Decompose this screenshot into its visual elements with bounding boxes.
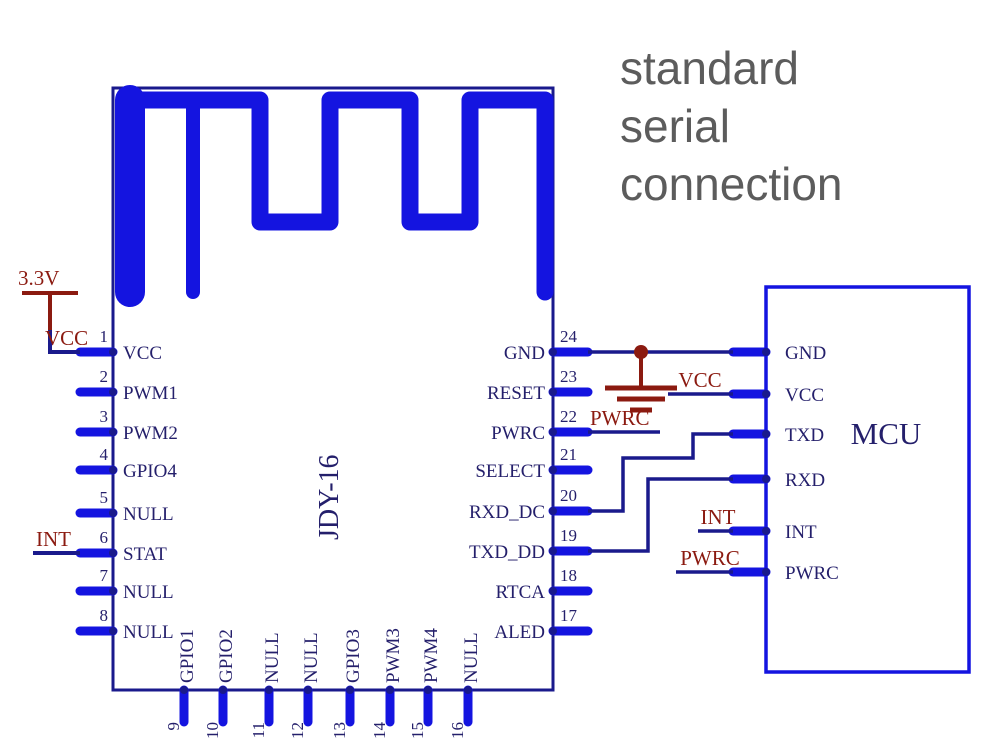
mcu-pin-gnd-label: GND [785, 343, 826, 364]
pin-right-21-number: 21 [560, 445, 577, 464]
supply-net-3v3: 3.3V VCC [18, 266, 88, 352]
pin-left-4-number: 4 [100, 445, 109, 464]
pin-right-18-number: 18 [560, 566, 577, 585]
pin-right-20-name: RXD_DC [469, 502, 545, 523]
annotation-title: standard serial connection [620, 40, 990, 214]
pin-left-3-name: PWM2 [123, 423, 178, 444]
pin-left-4-name: GPIO4 [123, 461, 177, 482]
pin-left-8-name: NULL [123, 622, 174, 643]
int-net-right: INT [698, 505, 736, 531]
pin-left-8-number: 8 [100, 606, 109, 625]
pin-left-6-number: 6 [100, 528, 109, 547]
pin-bottom-9-number: 9 [164, 722, 183, 731]
pin-left-1-name: VCC [123, 343, 162, 364]
pin-bottom-16-name: NULL [461, 632, 482, 683]
vcc-net-right: VCC [668, 368, 733, 394]
pwrc-mid-label: PWRC [590, 406, 650, 430]
annotation-line-2: serial [620, 98, 990, 156]
pin-bottom-10-name: GPIO2 [216, 629, 237, 683]
pwrc-net-right: PWRC [676, 546, 740, 572]
pin-left-6-name: STAT [123, 544, 167, 565]
pin-left-1-number: 1 [100, 327, 109, 346]
mcu-pin-rxd-label: RXD [785, 470, 825, 491]
pin-bottom-12-name: NULL [301, 632, 322, 683]
pin-right-22-name: PWRC [491, 423, 545, 444]
vcc-left-label: VCC [45, 326, 88, 350]
vcc-right-label: VCC [678, 368, 721, 392]
pin-right-18-name: RTCA [495, 582, 545, 603]
pin-right-20-number: 20 [560, 486, 577, 505]
pin-bottom-10-number: 10 [203, 722, 222, 739]
pin-right-23-name: RESET [487, 383, 545, 404]
pwrc-net-mid: PWRC [588, 406, 660, 432]
pin-left-7-name: NULL [123, 582, 174, 603]
pin-right-17-name: ALED [494, 622, 545, 643]
mcu-pin-pwrc-label: PWRC [785, 563, 839, 584]
pin-right-19-name: TXD_DD [469, 542, 545, 563]
pin-right-24-number: 24 [560, 327, 578, 346]
pin-bottom-16-number: 16 [448, 722, 467, 739]
pin-bottom-11-number: 11 [249, 722, 268, 738]
supply-label: 3.3V [18, 266, 59, 290]
mcu-pin-pwrc[interactable]: PWRC [733, 563, 839, 584]
ground-symbol-icon [605, 345, 677, 410]
pin-bottom-14-name: PWM3 [383, 628, 404, 683]
pin-bottom-12-number: 12 [288, 722, 307, 739]
pin-right-22-number: 22 [560, 407, 577, 426]
pin-right-24-name: GND [504, 343, 545, 364]
pin-bottom-13-number: 13 [330, 722, 349, 739]
pin-bottom-15-name: PWM4 [421, 628, 442, 683]
pin-bottom-15-number: 15 [408, 722, 427, 739]
mcu-pin-txd-label: TXD [785, 425, 824, 446]
pin-left-2-name: PWM1 [123, 383, 178, 404]
pin-right-19-number: 19 [560, 526, 577, 545]
annotation-line-1: standard [620, 40, 990, 98]
pin-bottom-14-number: 14 [370, 722, 389, 740]
pin-left-2-number: 2 [100, 367, 109, 386]
pin-right-21-name: SELECT [475, 461, 545, 482]
module-name-label: JDY-16 [314, 454, 345, 540]
schematic-canvas: JDY-16 1 VCC 2 PWM1 3 PWM2 [0, 0, 1000, 750]
pin-right-23-number: 23 [560, 367, 577, 386]
mcu-label: MCU [851, 416, 922, 451]
wire-rxddc-to-txd [588, 434, 733, 511]
int-left-label: INT [36, 527, 71, 551]
mcu-pin-int-label: INT [785, 522, 817, 543]
pin-bottom-13-name: GPIO3 [343, 629, 364, 683]
pin-left-5-number: 5 [100, 488, 109, 507]
mcu-pin-vcc-label: VCC [785, 385, 824, 406]
pwrc-right-label: PWRC [680, 546, 740, 570]
pin-left-5-name: NULL [123, 504, 174, 525]
pin-bottom-9-name: GPIO1 [177, 629, 198, 683]
int-net-left: INT [33, 527, 80, 553]
pin-left-7-number: 7 [100, 566, 109, 585]
pin-left-3-number: 3 [100, 407, 109, 426]
pin-right-17-number: 17 [560, 606, 578, 625]
int-right-label: INT [701, 505, 736, 529]
pin-bottom-11-name: NULL [262, 632, 283, 683]
annotation-line-3: connection [620, 156, 990, 214]
